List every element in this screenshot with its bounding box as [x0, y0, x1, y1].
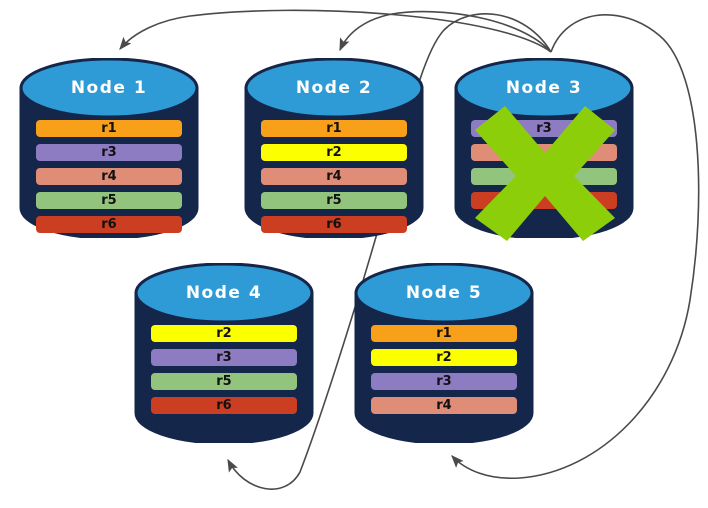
- node-2-replica-list: r1 r2 r4 r5 r6: [243, 120, 425, 233]
- replica-row: r4: [471, 144, 617, 161]
- replica-row: r2: [261, 144, 407, 161]
- replica-row: r6: [36, 216, 182, 233]
- edge-node3-to-node2: [340, 12, 551, 52]
- replica-row: r6: [151, 397, 297, 414]
- replica-row: r6: [471, 192, 617, 209]
- diagram-canvas: Node 1 r1 r3 r4 r5 r6 Node 2 r1 r2 r4 r5…: [0, 0, 708, 508]
- node-3[interactable]: Node 3 r3 r4 r5 r6: [453, 58, 635, 238]
- node-5-replica-list: r1 r2 r3 r4: [353, 325, 535, 414]
- replica-row: r3: [371, 373, 517, 390]
- node-2[interactable]: Node 2 r1 r2 r4 r5 r6: [243, 58, 425, 238]
- replica-row: r3: [471, 120, 617, 137]
- replica-row: r5: [36, 192, 182, 209]
- node-1-replica-list: r1 r3 r4 r5 r6: [18, 120, 200, 233]
- replica-row: r2: [151, 325, 297, 342]
- replica-row: r5: [471, 168, 617, 185]
- replica-row: r6: [261, 216, 407, 233]
- replica-row: r4: [261, 168, 407, 185]
- replica-row: r3: [36, 144, 182, 161]
- replica-row: r4: [36, 168, 182, 185]
- node-1[interactable]: Node 1 r1 r3 r4 r5 r6: [18, 58, 200, 238]
- replica-row: r1: [371, 325, 517, 342]
- replica-row: r3: [151, 349, 297, 366]
- replica-row: r5: [151, 373, 297, 390]
- replica-row: r1: [261, 120, 407, 137]
- node-5[interactable]: Node 5 r1 r2 r3 r4: [353, 263, 535, 443]
- replica-row: r5: [261, 192, 407, 209]
- replica-row: r4: [371, 397, 517, 414]
- edge-node3-to-node1: [120, 10, 551, 52]
- node-4[interactable]: Node 4 r2 r3 r5 r6: [133, 263, 315, 443]
- replica-row: r2: [371, 349, 517, 366]
- node-4-replica-list: r2 r3 r5 r6: [133, 325, 315, 414]
- replica-row: r1: [36, 120, 182, 137]
- node-3-replica-list: r3 r4 r5 r6: [453, 120, 635, 209]
